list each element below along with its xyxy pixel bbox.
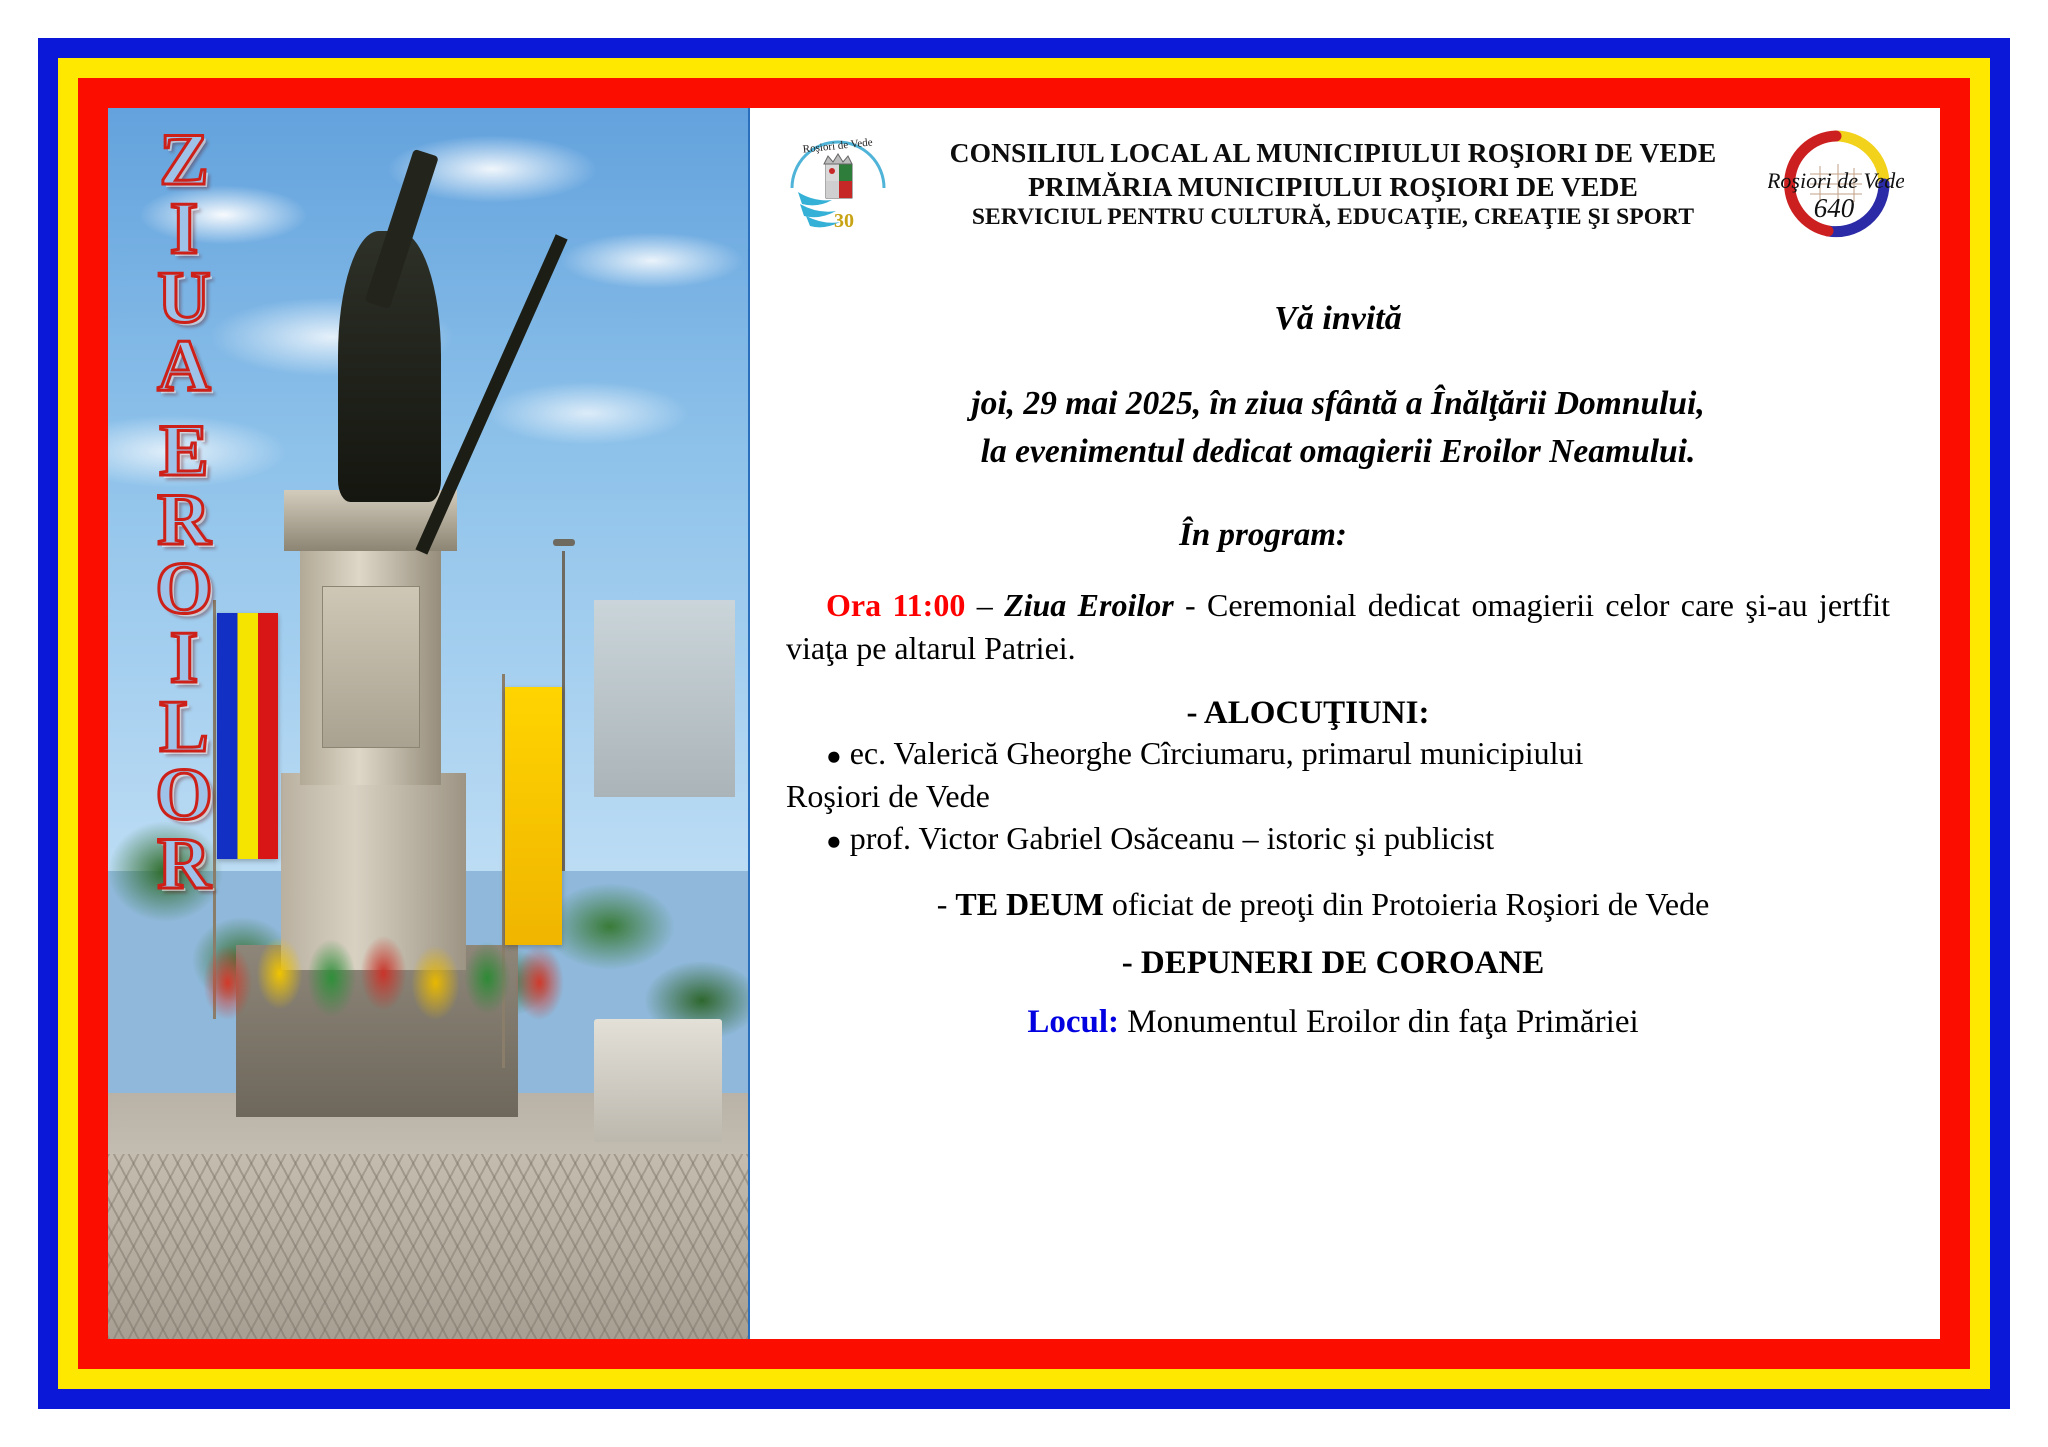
flower-wreaths [198,847,569,1081]
letterhead: Roşiori de Vede [778,122,1904,248]
location-value: Monumentul Eroilor din faţa Primăriei [1119,1004,1639,1040]
monument-plaque [322,586,420,748]
lamp-head [553,539,575,546]
bullet-icon: ● [826,827,842,856]
te-deum-rest: oficiat de preoţi din Protoieria Roşiori… [1104,886,1709,922]
speaker-1-continuation: Roşiori de Vede [786,775,1890,818]
svg-text:Roşiori de Vede: Roşiori de Vede [1768,168,1904,193]
spacer-1 [786,248,1890,300]
invitation-content: Roşiori de Vede [750,108,1940,1339]
spacer-8 [786,982,1890,1004]
svg-text:640: 640 [1814,193,1855,223]
spacer-6 [786,860,1890,886]
program-item-ceremony: Ora 11:00 – Ziua Eroilor - Ceremonial de… [786,584,1890,669]
romanian-flag [217,613,278,859]
alocutiuni-heading: - ALOCUŢIUNI: [786,695,1890,732]
event-dash: – [965,587,1004,623]
letterhead-text: CONSILIUL LOCAL AL MUNICIPIULUI ROŞIORI … [908,136,1758,232]
city-crest-logo-icon: Roşiori de Vede [778,130,898,238]
frame-red: Z I U A E R O I L O R [78,78,1970,1369]
bullet-icon: ● [826,742,842,771]
speaker-item-2: ● prof. Victor Gabriel Osăceanu – istori… [786,817,1890,860]
location-label: Locul: [1027,1004,1119,1040]
poster-root: Z I U A E R O I L O R [0,0,2048,1447]
te-deum-line: - TE DEUM oficiat de preoţi din Protoier… [786,886,1890,923]
event-name: Ziua Eroilor [1004,587,1174,623]
spacer-5 [786,669,1890,695]
invite-line: Vă invită [786,300,1890,338]
speaker-1-name: ec. Valerică Gheorghe Cîrciumaru, primar… [842,735,1584,771]
frame-yellow: Z I U A E R O I L O R [58,58,1990,1389]
pavement [108,1154,748,1339]
frame-blue: Z I U A E R O I L O R [38,38,2010,1409]
depuneri-coroane-line: - DEPUNERI DE COROANE [786,945,1890,982]
svg-text:30: 30 [834,210,854,232]
event-date-line: joi, 29 mai 2025, în ziua sfântă a Înălţ… [786,380,1890,475]
program-heading: În program: [786,517,1890,554]
invitation-body: Vă invită joi, 29 mai 2025, în ziua sfân… [778,248,1904,1329]
letterhead-line2: PRIMĂRIA MUNICIPIULUI ROŞIORI DE VEDE [908,170,1758,204]
speaker-item-1: ● ec. Valerică Gheorghe Cîrciumaru, prim… [786,732,1890,775]
anniversary-640-logo-icon: Roşiori de Vede 640 [1768,124,1904,244]
letterhead-line1: CONSILIUL LOCAL AL MUNICIPIULUI ROŞIORI … [908,136,1758,170]
event-time: Ora 11:00 [826,587,965,623]
spacer-2 [786,338,1890,380]
monument-photo: Z I U A E R O I L O R [108,108,750,1339]
event-date-line2: la evenimentul dedicat omagierii Eroilor… [786,428,1890,476]
spacer-7 [786,923,1890,945]
poster-inner: Z I U A E R O I L O R [108,108,1940,1339]
te-deum-prefix: - [937,886,956,922]
spacer-4 [786,554,1890,584]
speaker-2-name: prof. Victor Gabriel Osăceanu – istoric … [842,820,1494,856]
te-deum-label: TE DEUM [955,886,1103,922]
letterhead-line3: SERVICIUL PENTRU CULTURĂ, EDUCAŢIE, CREA… [908,203,1758,232]
svg-text:Roşiori de Vede: Roşiori de Vede [802,136,873,155]
spacer-3 [786,475,1890,517]
concrete-planter [594,1019,722,1142]
event-date-line1: joi, 29 mai 2025, în ziua sfântă a Înălţ… [786,380,1890,428]
location-line: Locul: Monumentul Eroilor din faţa Primă… [786,1004,1890,1041]
